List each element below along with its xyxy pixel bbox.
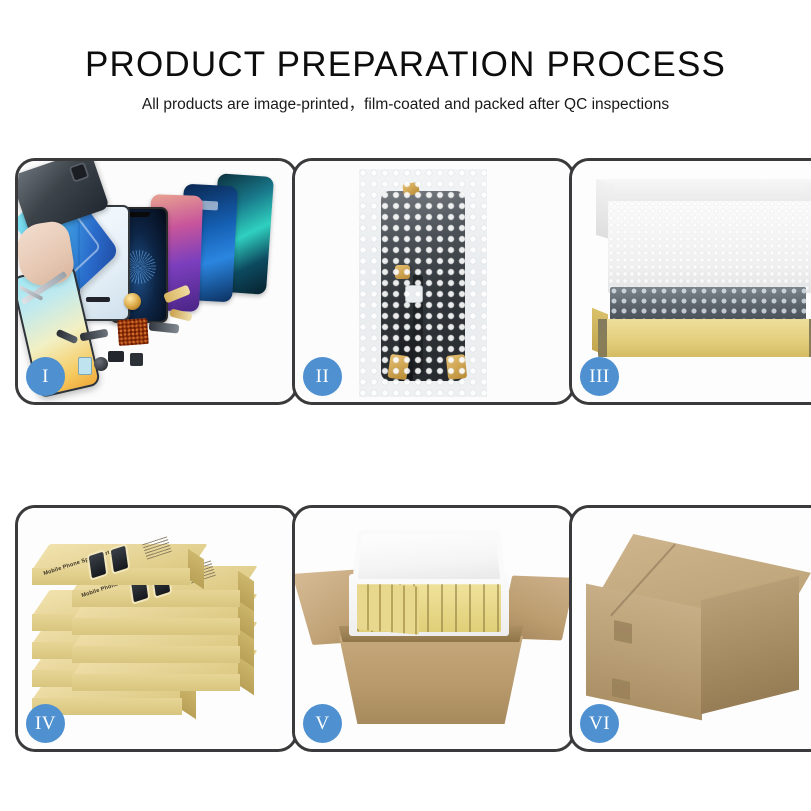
- foam-texture: [608, 201, 811, 293]
- page-title: PRODUCT PREPARATION PROCESS: [0, 0, 811, 82]
- process-step-panel-1[interactable]: I: [15, 158, 298, 405]
- step-badge-6: VI: [580, 704, 619, 743]
- process-step-grid: I II: [15, 158, 796, 746]
- box-front-face: [72, 646, 240, 663]
- box-front-face: [72, 674, 240, 691]
- carton-tape-lower: [612, 678, 630, 700]
- vibrator-part: [94, 357, 108, 371]
- carton-right-face: [701, 576, 799, 714]
- process-step-panel-6[interactable]: VI: [569, 505, 811, 752]
- sim-tray-part: [78, 357, 92, 375]
- bubble-wrap-bag: [359, 169, 487, 397]
- step-badge-5: V: [303, 704, 342, 743]
- step-badge-2: II: [303, 357, 342, 396]
- camera-module-part: [124, 293, 141, 310]
- box-front-face: [72, 618, 240, 635]
- step-badge-4: IV: [26, 704, 65, 743]
- bubble-wrap-texture: [610, 287, 806, 323]
- page-subtitle: All products are image-printed，film-coat…: [0, 82, 811, 113]
- carton-left-face: [586, 584, 702, 721]
- copper-pad-part: [117, 318, 149, 346]
- carton-body: [339, 636, 523, 724]
- bubble-texture: [359, 169, 487, 397]
- step-badge-3: III: [580, 357, 619, 396]
- chip-part-a: [108, 351, 124, 362]
- step-badge-1: I: [26, 357, 65, 396]
- foam-sheet: [608, 201, 811, 293]
- carton-tape-upper: [614, 620, 632, 644]
- flex-cable-part-d: [149, 321, 180, 333]
- mailer-front-panel: [598, 319, 811, 357]
- bubble-wrap-layer: [610, 287, 806, 323]
- foam-lid: [352, 530, 506, 584]
- process-step-panel-4[interactable]: Mobile Phone Spare Parts Mobile Phone Sp…: [15, 505, 298, 752]
- speaker-part: [86, 297, 110, 302]
- box-screen-image-top-a: [89, 552, 106, 579]
- box-screen-image-top-b: [111, 546, 128, 573]
- product-preparation-process-page: PRODUCT PREPARATION PROCESS All products…: [0, 0, 811, 811]
- header: PRODUCT PREPARATION PROCESS All products…: [0, 0, 811, 113]
- yellow-boxes-inside-left: [357, 581, 419, 634]
- process-step-panel-5[interactable]: V: [292, 505, 575, 752]
- chip-part-b: [130, 353, 143, 366]
- process-step-panel-2[interactable]: II: [292, 158, 575, 405]
- process-step-panel-3[interactable]: III: [569, 158, 811, 405]
- box-stack: Mobile Phone Spare Parts Mobile Phone Sp…: [28, 522, 280, 738]
